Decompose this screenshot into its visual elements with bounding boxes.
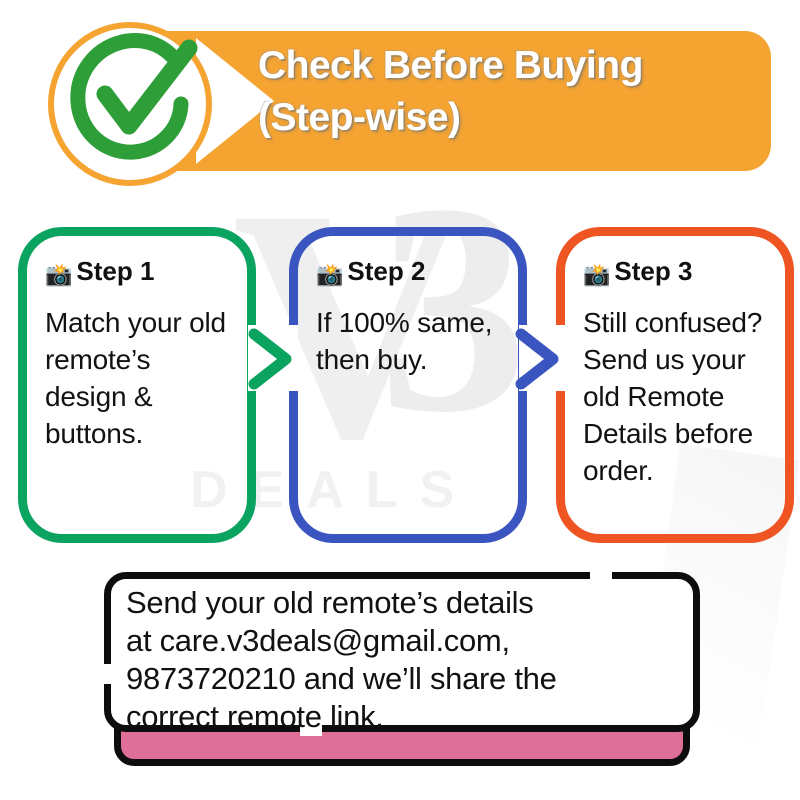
step-card-2[interactable]: 📸Step 2 If 100% same, then buy. xyxy=(289,227,527,543)
page-title-line-2: (Step-wise) xyxy=(258,92,768,144)
camera-with-flash-icon: 📸 xyxy=(583,262,610,287)
note-border-gap-top xyxy=(590,570,612,582)
step-3-body: Still confused? Send us your old Remote … xyxy=(583,304,771,489)
step-1-body: Match your old remote’s design & buttons… xyxy=(45,304,233,452)
note-line-3: 9873720210 and we’ll share the xyxy=(126,660,686,698)
infographic-canvas: V 3 DEALS Check Before Buying (Step-wise… xyxy=(0,0,800,800)
step-card-1[interactable]: 📸Step 1 Match your old remote’s design &… xyxy=(18,227,256,543)
step-3-heading: 📸Step 3 xyxy=(583,254,771,292)
step-3-heading-label: Step 3 xyxy=(614,256,692,286)
step-1-heading: 📸Step 1 xyxy=(45,254,233,292)
step-1-heading-label: Step 1 xyxy=(76,256,154,286)
chevron-step2-to-step3-icon xyxy=(513,328,565,390)
note-border-gap-left xyxy=(101,664,113,684)
note-line-2: at care.v3deals@gmail.com, xyxy=(126,622,686,660)
step-2-heading: 📸Step 2 xyxy=(316,254,504,292)
step-2-heading-label: Step 2 xyxy=(347,256,425,286)
page-title-line-1: Check Before Buying xyxy=(258,40,768,92)
camera-with-flash-icon: 📸 xyxy=(316,262,343,287)
chevron-step1-to-step2-icon xyxy=(246,328,298,390)
camera-with-flash-icon: 📸 xyxy=(45,262,72,287)
steps-row: 📸Step 1 Match your old remote’s design &… xyxy=(0,220,800,560)
header-banner: Check Before Buying (Step-wise) xyxy=(0,0,800,200)
step-2-body: If 100% same, then buy. xyxy=(316,304,504,378)
step-card-3[interactable]: 📸Step 3 Still confused? Send us your old… xyxy=(556,227,794,543)
note-line-4: correct remote link. xyxy=(126,698,686,736)
note-line-1: Send your old remote’s details xyxy=(126,584,686,622)
green-check-circle-icon xyxy=(48,22,212,186)
page-title: Check Before Buying (Step-wise) xyxy=(258,40,768,144)
note-text: Send your old remote’s details at care.v… xyxy=(126,584,686,736)
contact-note: Send your old remote’s details at care.v… xyxy=(104,572,700,762)
